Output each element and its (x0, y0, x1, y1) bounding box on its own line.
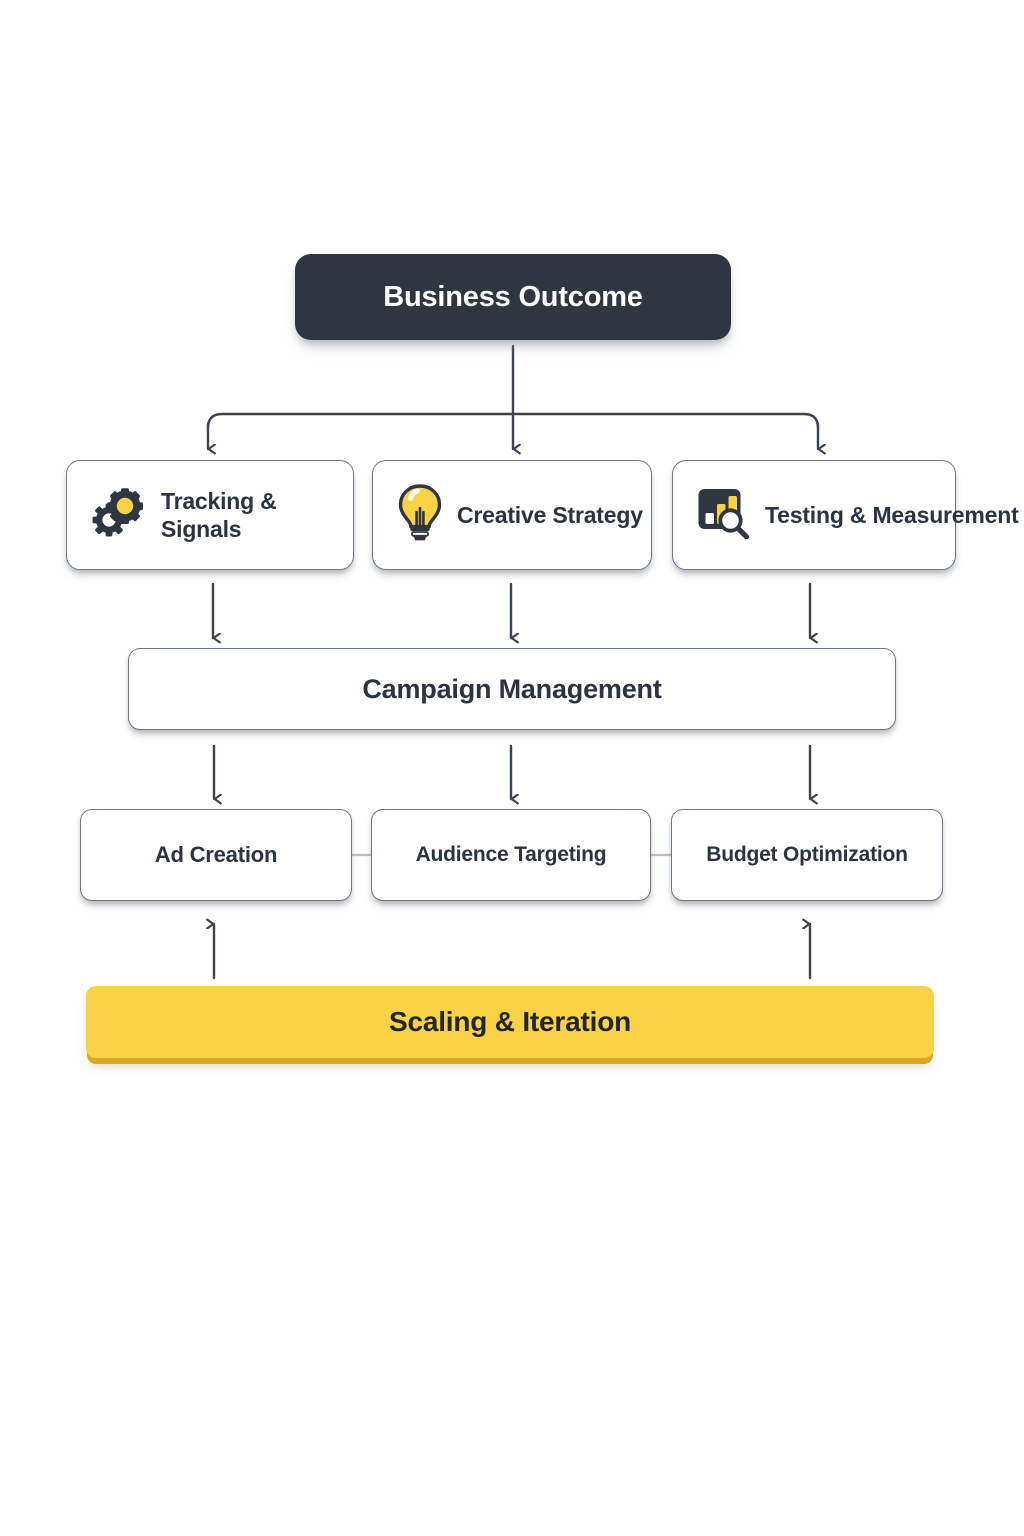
connector-layer (0, 0, 1024, 1536)
node-testing-measurement-label: Testing & Measurement (765, 501, 1019, 529)
node-campaign-management[interactable]: Campaign Management (128, 648, 896, 730)
node-audience-targeting-label: Audience Targeting (416, 843, 607, 867)
node-tracking-signals-label: Tracking & Signals (161, 487, 353, 543)
edge-distribution-bus (208, 414, 818, 428)
node-ad-creation[interactable]: Ad Creation (80, 809, 352, 901)
node-ad-creation-label: Ad Creation (155, 842, 277, 868)
node-creative-strategy-label: Creative Strategy (457, 501, 643, 529)
gears-icon (91, 488, 147, 543)
node-budget-optimization[interactable]: Budget Optimization (671, 809, 943, 901)
node-creative-strategy[interactable]: Creative Strategy (372, 460, 652, 570)
node-scaling-iteration-label: Scaling & Iteration (389, 1006, 631, 1038)
node-scaling-iteration[interactable]: Scaling & Iteration (86, 986, 934, 1058)
lightbulb-icon (397, 484, 443, 547)
node-audience-targeting[interactable]: Audience Targeting (371, 809, 651, 901)
node-tracking-signals[interactable]: Tracking & Signals (66, 460, 354, 570)
node-budget-optimization-label: Budget Optimization (706, 843, 908, 867)
node-business-outcome[interactable]: Business Outcome (295, 254, 731, 340)
diagram-canvas: Business Outcome (0, 0, 1024, 1536)
node-business-outcome-label: Business Outcome (383, 281, 643, 314)
node-campaign-management-label: Campaign Management (362, 674, 661, 705)
bar-chart-search-icon (697, 487, 751, 544)
node-testing-measurement[interactable]: Testing & Measurement (672, 460, 956, 570)
